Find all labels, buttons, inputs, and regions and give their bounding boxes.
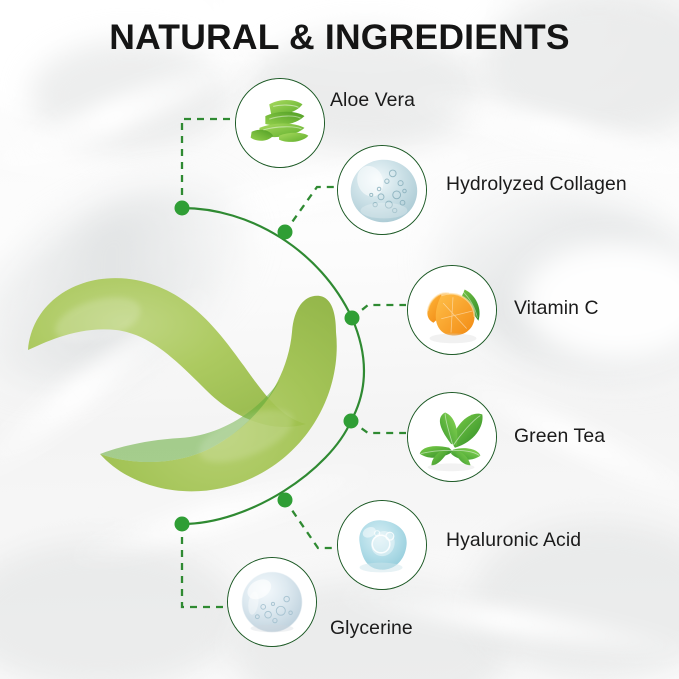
node-dot-glycerine [175,517,190,532]
node-dot-hydrolyzed-collagen [278,225,293,240]
branch-green-tea [351,421,406,433]
eye-patch-graphic [20,258,350,508]
ingredient-circle-hydrolyzed-collagen[interactable] [337,145,427,235]
ingredient-label-aloe-vera: Aloe Vera [330,89,415,112]
branch-glycerine [182,524,226,607]
glycerine-gel-sphere-icon [228,558,316,646]
ingredient-circle-aloe-vera[interactable] [235,78,325,168]
orange-slice-icon [408,266,496,354]
branch-aloe-vera [182,119,232,208]
ingredient-label-green-tea: Green Tea [514,425,605,448]
green-tea-leaves-icon [408,393,496,481]
node-dot-aloe-vera [175,201,190,216]
aloe-vera-leaves-icon [236,79,324,167]
ingredient-circle-glycerine[interactable] [227,557,317,647]
hyaluronic-gel-blob-icon [338,501,426,589]
collagen-gel-drop-icon [338,146,426,234]
ingredient-label-glycerine: Glycerine [330,617,413,640]
branch-vitamin-c [352,305,406,318]
ingredient-circle-vitamin-c[interactable] [407,265,497,355]
ingredient-circle-green-tea[interactable] [407,392,497,482]
branch-hydrolyzed-collagen [285,187,336,232]
eye-patch-pair [20,258,350,508]
ingredient-circle-hyaluronic-acid[interactable] [337,500,427,590]
infographic-canvas: NATURAL & INGREDIENTS [0,0,679,679]
ingredient-label-vitamin-c: Vitamin C [514,297,599,320]
ingredient-label-hydrolyzed-collagen: Hydrolyzed Collagen [446,173,627,196]
ingredient-label-hyaluronic-acid: Hyaluronic Acid [446,529,581,552]
